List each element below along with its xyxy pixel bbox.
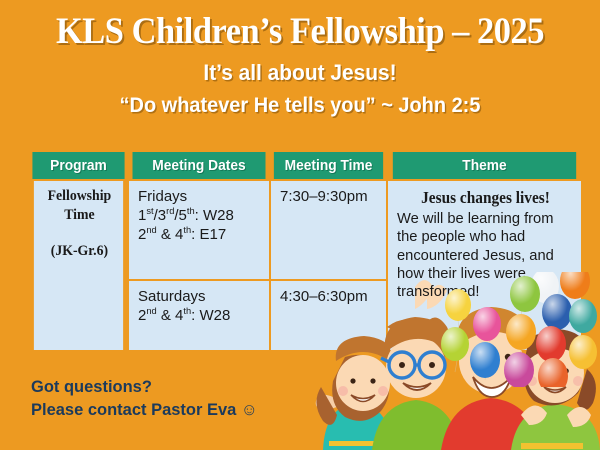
child-girl-left [316,336,392,450]
cell-meeting-time-saturday: 4:30–6:30pm [271,281,386,350]
saturday-dates-line1: 2nd & 4th: W28 [138,307,230,324]
f2-sfx: : E17 [191,226,226,243]
schedule-table-wrapper: Program Meeting Dates Meeting Time Theme… [28,150,573,352]
poster-subtitle: It’s all about Jesus! [15,50,585,84]
schedule-table: Program Meeting Dates Meeting Time Theme… [28,150,583,352]
column-header-program: Program [32,152,124,179]
saturday-day-label: Saturdays [138,288,206,305]
f1-sfx: : W28 [195,207,234,224]
program-grades: (JK-Gr.6) [42,242,117,261]
poster-verse: “Do whatever He tells you” ~ John 2:5 [15,84,585,116]
friday-dates-line1: 1st/3rd/5th: W28 [138,207,234,224]
contact-line1: Got questions? [31,377,152,396]
column-header-meeting-time: Meeting Time [274,152,383,179]
s1-s2: th [183,306,191,316]
table-header-row: Program Meeting Dates Meeting Time Theme [30,152,581,179]
program-name: Fellowship Time [48,188,112,223]
s1-s1: nd [146,306,156,316]
cell-program: Fellowship Time (JK-Gr.6) [34,181,123,350]
contact-line2: Please contact Pastor Eva [31,400,236,419]
column-header-meeting-dates: Meeting Dates [133,152,266,179]
f2-s2: th [183,225,191,235]
cell-meeting-dates-saturday: Saturdays 2nd & 4th: W28 [129,281,269,350]
f1-m2: /5 [174,207,187,224]
f2-m: & 4 [157,226,184,243]
friday-dates-line2: 2nd & 4th: E17 [138,226,226,243]
cell-theme: Jesus changes lives! We will be learning… [388,181,581,350]
s1-sfx: : W28 [191,307,230,324]
table-row: Fellowship Time (JK-Gr.6) Fridays 1st/3r… [30,181,581,279]
s1-m: & 4 [157,307,184,324]
column-header-theme: Theme [393,152,576,179]
contact-block: Got questions? Please contact Pastor Eva… [31,376,258,422]
friday-day-label: Fridays [138,188,187,205]
smiley-icon: ☺ [241,400,258,419]
f2-s1: nd [146,225,156,235]
f1-s1: st [146,206,153,216]
cell-meeting-dates-friday: Fridays 1st/3rd/5th: W28 2nd & 4th: E17 [129,181,269,279]
f1-m1: /3 [154,207,167,224]
theme-body: We will be learning from the people who … [397,210,574,301]
theme-heading: Jesus changes lives! [403,187,568,208]
f1-s3: th [187,206,195,216]
cell-meeting-time-friday: 7:30–9:30pm [271,181,386,279]
poster-title: KLS Children’s Fellowship – 2025 [21,0,579,50]
